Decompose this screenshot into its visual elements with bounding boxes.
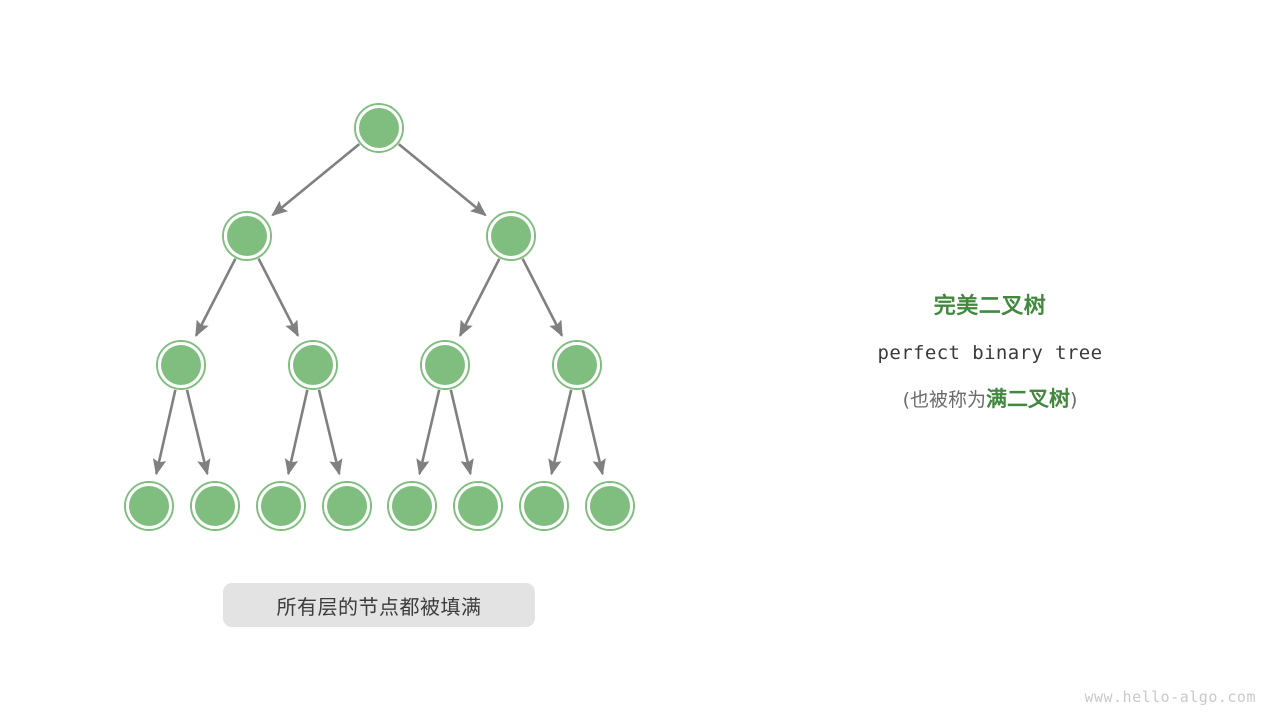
node-circle (261, 486, 301, 526)
tree-node (125, 482, 173, 530)
tree-edge (523, 259, 562, 336)
node-circle (557, 345, 597, 385)
node-circle (161, 345, 201, 385)
tree-node (520, 482, 568, 530)
legend-alias: (也被称为满二叉树) (790, 384, 1190, 415)
node-circle (524, 486, 564, 526)
tree-node (487, 212, 535, 260)
legend-panel: 完美二叉树 perfect binary tree (也被称为满二叉树) (790, 292, 1190, 415)
tree-edge (273, 144, 360, 215)
tree-edge (187, 390, 207, 474)
tree-edge (288, 390, 307, 474)
tree-edges (156, 144, 602, 474)
legend-title: 完美二叉树 (790, 292, 1190, 322)
tree-edge (399, 144, 486, 215)
tree-node (454, 482, 502, 530)
tree-edge (460, 259, 499, 336)
node-circle (392, 486, 432, 526)
caption-text: 所有层的节点都被填满 (277, 591, 482, 620)
tree-edge (319, 390, 339, 474)
tree-edge (552, 390, 572, 474)
tree-node (257, 482, 305, 530)
tree-edge (156, 390, 175, 474)
caption-pill: 所有层的节点都被填满 (223, 583, 535, 627)
tree-edge (583, 390, 603, 474)
tree-node (157, 341, 205, 389)
node-circle (327, 486, 367, 526)
tree-node (586, 482, 634, 530)
node-circle (359, 108, 399, 148)
tree-edge (196, 259, 235, 336)
node-circle (590, 486, 630, 526)
diagram-canvas: 所有层的节点都被填满 完美二叉树 perfect binary tree (也被… (0, 0, 1280, 720)
node-circle (458, 486, 498, 526)
legend-alias-prefix: (也被称为 (903, 389, 986, 411)
tree-nodes (125, 104, 634, 530)
tree-node (421, 341, 469, 389)
node-circle (129, 486, 169, 526)
legend-alias-term: 满二叉树 (986, 387, 1070, 411)
tree-node (289, 341, 337, 389)
node-circle (425, 345, 465, 385)
watermark: www.hello-algo.com (1084, 688, 1256, 706)
tree-node (223, 212, 271, 260)
tree-node (323, 482, 371, 530)
tree-node (191, 482, 239, 530)
tree-node (553, 341, 601, 389)
node-circle (491, 216, 531, 256)
node-circle (195, 486, 235, 526)
node-circle (227, 216, 267, 256)
tree-edge (420, 390, 440, 474)
tree-edge (451, 390, 471, 474)
tree-node (388, 482, 436, 530)
tree-edge (259, 259, 298, 336)
legend-alias-suffix: ) (1070, 389, 1077, 411)
tree-node (355, 104, 403, 152)
legend-subtitle: perfect binary tree (790, 338, 1190, 368)
node-circle (293, 345, 333, 385)
